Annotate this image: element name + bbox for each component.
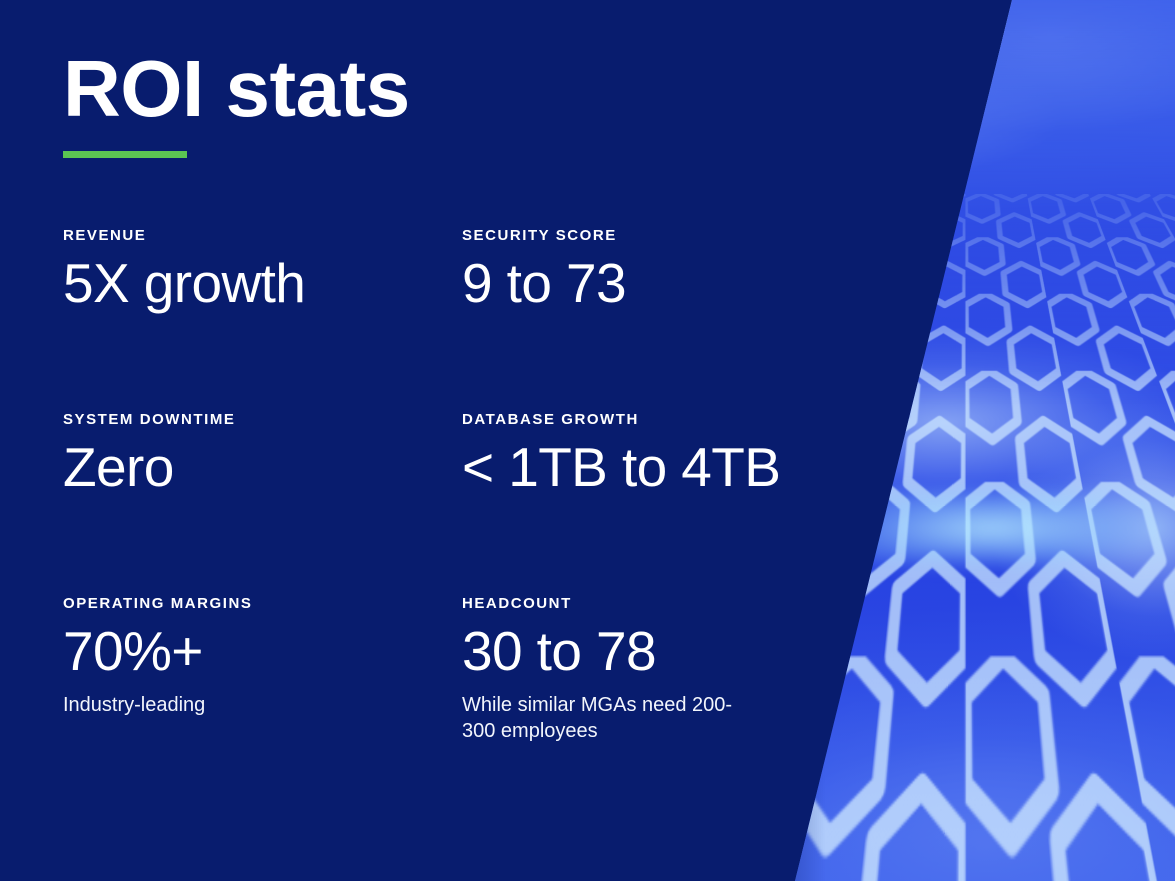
stat-value: 9 to 73 bbox=[462, 255, 783, 312]
title-accent-bar bbox=[63, 151, 187, 158]
hexagon-mesh-image bbox=[755, 0, 1175, 881]
stat-label: DATABASE GROWTH bbox=[462, 412, 783, 427]
stat-security-score: SECURITY SCORE 9 to 73 bbox=[462, 228, 783, 412]
stat-value: Zero bbox=[63, 439, 462, 496]
honeycomb-mesh-icon bbox=[755, 0, 1175, 194]
stat-label: SYSTEM DOWNTIME bbox=[63, 412, 462, 427]
stat-revenue: REVENUE 5X growth bbox=[63, 228, 462, 412]
stat-operating-margins: OPERATING MARGINS 70%+ Industry-leading bbox=[63, 596, 462, 744]
stat-label: HEADCOUNT bbox=[462, 596, 783, 611]
stat-headcount: HEADCOUNT 30 to 78 While similar MGAs ne… bbox=[462, 596, 783, 744]
stat-label: REVENUE bbox=[63, 228, 462, 243]
stat-database-growth: DATABASE GROWTH < 1TB to 4TB bbox=[462, 412, 783, 596]
page-title: ROI stats bbox=[63, 49, 410, 129]
stat-value: 5X growth bbox=[63, 255, 462, 312]
stat-subtext: While similar MGAs need 200-300 employee… bbox=[462, 692, 762, 744]
stat-value: 70%+ bbox=[63, 623, 462, 680]
media-background bbox=[755, 0, 1175, 881]
stats-grid: REVENUE 5X growth SECURITY SCORE 9 to 73… bbox=[63, 228, 783, 744]
stat-label: OPERATING MARGINS bbox=[63, 596, 462, 611]
stat-subtext: Industry-leading bbox=[63, 692, 363, 718]
stat-label: SECURITY SCORE bbox=[462, 228, 783, 243]
stat-value: < 1TB to 4TB bbox=[462, 439, 783, 496]
stat-value: 30 to 78 bbox=[462, 623, 783, 680]
content-area: ROI stats REVENUE 5X growth SECURITY SCO… bbox=[0, 0, 800, 881]
slide-root: ROI stats REVENUE 5X growth SECURITY SCO… bbox=[0, 0, 1175, 881]
stat-system-downtime: SYSTEM DOWNTIME Zero bbox=[63, 412, 462, 596]
